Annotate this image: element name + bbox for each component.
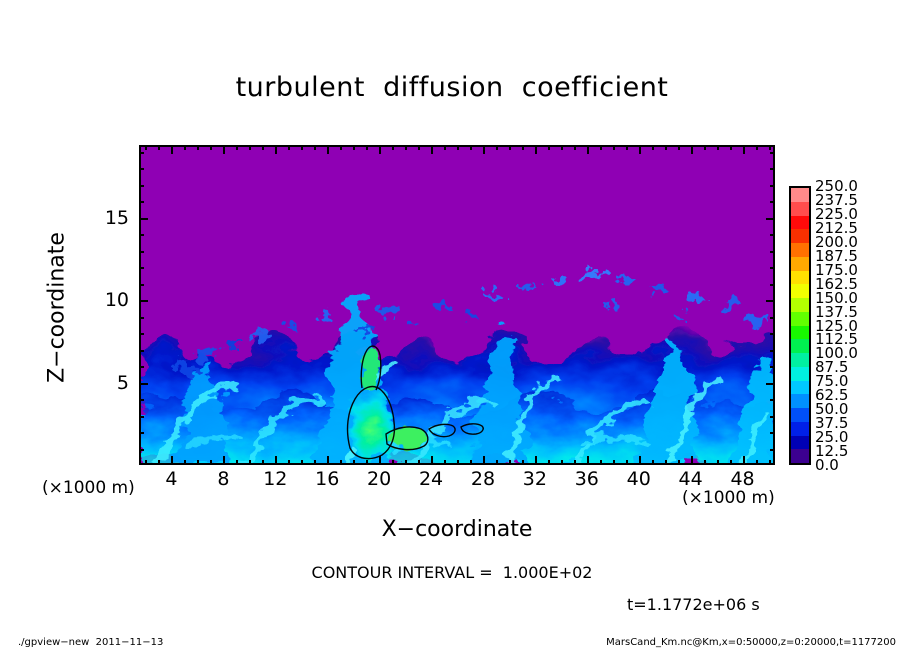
- x-tick-minor-top: [340, 145, 342, 150]
- x-tick-minor: [353, 460, 355, 465]
- y-tick-minor: [139, 251, 144, 253]
- colorbar-swatch: [791, 422, 809, 436]
- x-tick-major: [587, 456, 589, 465]
- y-tick-minor-right: [770, 432, 775, 434]
- x-tick-minor: [574, 460, 576, 465]
- x-tick-minor-top: [769, 145, 771, 150]
- x-tick-major: [379, 456, 381, 465]
- x-tick-minor-top: [392, 145, 394, 150]
- x-tick-minor-top: [210, 145, 212, 150]
- colorbar-swatch: [791, 229, 809, 243]
- x-tick-minor: [548, 460, 550, 465]
- y-tick-minor-right: [770, 366, 775, 368]
- x-tick-label: 48: [713, 468, 773, 490]
- y-tick-minor-right: [770, 267, 775, 269]
- colorbar-swatch: [791, 271, 809, 285]
- x-tick-minor-top: [184, 145, 186, 150]
- x-tick-major: [483, 456, 485, 465]
- plot-area: [139, 145, 775, 465]
- y-tick-label: 5: [83, 372, 129, 394]
- x-tick-minor: [678, 460, 680, 465]
- x-tick-minor: [522, 460, 524, 465]
- x-tick-minor: [418, 460, 420, 465]
- x-tick-minor: [236, 460, 238, 465]
- colorbar: [789, 186, 811, 465]
- y-tick-minor-right: [770, 399, 775, 401]
- x-tick-minor: [262, 460, 264, 465]
- x-tick-major-top: [535, 145, 537, 154]
- y-tick-minor-right: [770, 333, 775, 335]
- x-tick-minor-top: [457, 145, 459, 150]
- x-tick-minor: [158, 460, 160, 465]
- x-tick-major: [171, 456, 173, 465]
- x-tick-minor: [470, 460, 472, 465]
- y-tick-minor-right: [770, 185, 775, 187]
- y-tick-label: 10: [83, 289, 129, 311]
- x-tick-major-top: [691, 145, 693, 154]
- x-tick-minor-top: [249, 145, 251, 150]
- x-tick-minor-top: [145, 145, 147, 150]
- y-tick-minor-right: [770, 201, 775, 203]
- x-tick-minor: [704, 460, 706, 465]
- x-tick-minor: [392, 460, 394, 465]
- x-tick-major: [535, 456, 537, 465]
- x-tick-minor-top: [288, 145, 290, 150]
- y-tick-minor: [139, 366, 144, 368]
- x-tick-minor-top: [444, 145, 446, 150]
- y-axis-title: Z−coordinate: [45, 218, 70, 398]
- x-tick-minor: [301, 460, 303, 465]
- x-tick-minor-top: [418, 145, 420, 150]
- x-tick-major: [431, 456, 433, 465]
- y-tick-major-right: [766, 383, 775, 385]
- x-tick-minor-top: [353, 145, 355, 150]
- x-tick-major-top: [483, 145, 485, 154]
- x-tick-major-top: [587, 145, 589, 154]
- x-tick-major: [691, 456, 693, 465]
- x-tick-minor: [600, 460, 602, 465]
- colorbar-swatch: [791, 216, 809, 230]
- y-tick-minor-right: [770, 234, 775, 236]
- x-tick-minor: [444, 460, 446, 465]
- x-tick-major-top: [743, 145, 745, 154]
- y-tick-minor-right: [770, 350, 775, 352]
- x-tick-minor: [561, 460, 563, 465]
- x-axis-title: X−coordinate: [139, 517, 775, 542]
- x-tick-major-top: [639, 145, 641, 154]
- turbulence-field: [141, 147, 775, 465]
- y-tick-minor: [139, 416, 144, 418]
- x-tick-minor-top: [613, 145, 615, 150]
- colorbar-swatch: [791, 381, 809, 395]
- colorbar-swatch: [791, 449, 809, 463]
- y-tick-major: [139, 300, 148, 302]
- y-tick-minor-right: [770, 168, 775, 170]
- contour-interval-label: CONTOUR INTERVAL = 1.000E+02: [0, 563, 904, 582]
- y-tick-minor: [139, 333, 144, 335]
- x-tick-minor-top: [600, 145, 602, 150]
- y-tick-minor: [139, 399, 144, 401]
- x-tick-minor: [145, 460, 147, 465]
- x-tick-major-top: [275, 145, 277, 154]
- colorbar-swatch: [791, 202, 809, 216]
- x-tick-minor: [665, 460, 667, 465]
- x-tick-minor-top: [509, 145, 511, 150]
- x-tick-minor: [288, 460, 290, 465]
- colorbar-tick-label: 0.0: [815, 458, 839, 473]
- x-tick-minor-top: [574, 145, 576, 150]
- x-tick-major-top: [379, 145, 381, 154]
- y-tick-major-right: [766, 300, 775, 302]
- time-label: t=1.1772e+06 s: [627, 595, 760, 614]
- colorbar-swatch: [791, 436, 809, 450]
- x-tick-major: [275, 456, 277, 465]
- x-tick-minor: [457, 460, 459, 465]
- y-tick-major: [139, 218, 148, 220]
- x-tick-minor-top: [561, 145, 563, 150]
- y-tick-minor: [139, 152, 144, 154]
- y-tick-minor: [139, 284, 144, 286]
- y-tick-major-right: [766, 218, 775, 220]
- colorbar-swatch: [791, 284, 809, 298]
- x-tick-minor-top: [197, 145, 199, 150]
- colorbar-swatch: [791, 326, 809, 340]
- x-tick-minor: [509, 460, 511, 465]
- x-tick-minor-top: [717, 145, 719, 150]
- x-tick-minor-top: [158, 145, 160, 150]
- x-tick-minor-top: [496, 145, 498, 150]
- x-tick-major: [639, 456, 641, 465]
- colorbar-swatch: [791, 394, 809, 408]
- x-tick-minor-top: [522, 145, 524, 150]
- x-tick-minor-top: [652, 145, 654, 150]
- x-tick-minor-top: [548, 145, 550, 150]
- y-tick-minor: [139, 317, 144, 319]
- colorbar-swatch: [791, 243, 809, 257]
- x-tick-minor-top: [730, 145, 732, 150]
- y-tick-major: [139, 383, 148, 385]
- y-tick-minor: [139, 449, 144, 451]
- x-tick-minor-top: [665, 145, 667, 150]
- x-tick-minor-top: [301, 145, 303, 150]
- x-tick-minor-top: [678, 145, 680, 150]
- x-tick-major-top: [171, 145, 173, 154]
- y-tick-minor: [139, 267, 144, 269]
- x-tick-minor-top: [262, 145, 264, 150]
- y-tick-minor: [139, 350, 144, 352]
- colorbar-swatch: [791, 353, 809, 367]
- colorbar-swatch: [791, 339, 809, 353]
- x-tick-minor: [496, 460, 498, 465]
- x-tick-minor: [717, 460, 719, 465]
- x-tick-minor-top: [704, 145, 706, 150]
- colorbar-swatch: [791, 408, 809, 422]
- y-tick-minor: [139, 234, 144, 236]
- y-tick-minor-right: [770, 449, 775, 451]
- x-tick-major: [327, 456, 329, 465]
- colorbar-swatch: [791, 257, 809, 271]
- x-axis-units: (×1000 m): [682, 488, 775, 508]
- page-title: turbulent diffusion coefficient: [0, 72, 904, 103]
- y-tick-minor-right: [770, 152, 775, 154]
- y-tick-minor: [139, 168, 144, 170]
- x-tick-minor: [197, 460, 199, 465]
- x-tick-minor: [769, 460, 771, 465]
- x-tick-major-top: [431, 145, 433, 154]
- colorbar-swatch: [791, 312, 809, 326]
- y-tick-minor-right: [770, 284, 775, 286]
- y-tick-minor-right: [770, 416, 775, 418]
- colorbar-swatch: [791, 298, 809, 312]
- x-tick-minor: [366, 460, 368, 465]
- x-tick-minor: [756, 460, 758, 465]
- x-tick-minor: [652, 460, 654, 465]
- y-tick-minor: [139, 185, 144, 187]
- x-tick-minor-top: [236, 145, 238, 150]
- x-tick-minor: [249, 460, 251, 465]
- x-tick-minor-top: [470, 145, 472, 150]
- x-tick-major-top: [223, 145, 225, 154]
- x-tick-major-top: [327, 145, 329, 154]
- x-tick-minor: [613, 460, 615, 465]
- x-tick-minor-top: [405, 145, 407, 150]
- y-tick-minor-right: [770, 251, 775, 253]
- x-tick-minor: [730, 460, 732, 465]
- x-tick-minor: [210, 460, 212, 465]
- y-tick-minor: [139, 432, 144, 434]
- colorbar-swatch: [791, 367, 809, 381]
- y-tick-label: 15: [83, 207, 129, 229]
- x-tick-minor-top: [626, 145, 628, 150]
- colorbar-swatch: [791, 188, 809, 202]
- footer-command: ./gpview−new 2011−11−13: [18, 637, 163, 648]
- x-tick-minor: [626, 460, 628, 465]
- x-tick-minor-top: [314, 145, 316, 150]
- x-tick-major: [743, 456, 745, 465]
- y-tick-minor: [139, 201, 144, 203]
- y-tick-minor-right: [770, 317, 775, 319]
- x-tick-minor: [405, 460, 407, 465]
- x-tick-minor-top: [756, 145, 758, 150]
- x-tick-minor: [184, 460, 186, 465]
- footer-dataset: MarsCand_Km.nc@Km,x=0:50000,z=0:20000,t=…: [606, 637, 896, 648]
- x-tick-minor-top: [366, 145, 368, 150]
- x-tick-minor: [314, 460, 316, 465]
- x-tick-minor: [340, 460, 342, 465]
- y-axis-units: (×1000 m): [42, 478, 135, 498]
- x-tick-major: [223, 456, 225, 465]
